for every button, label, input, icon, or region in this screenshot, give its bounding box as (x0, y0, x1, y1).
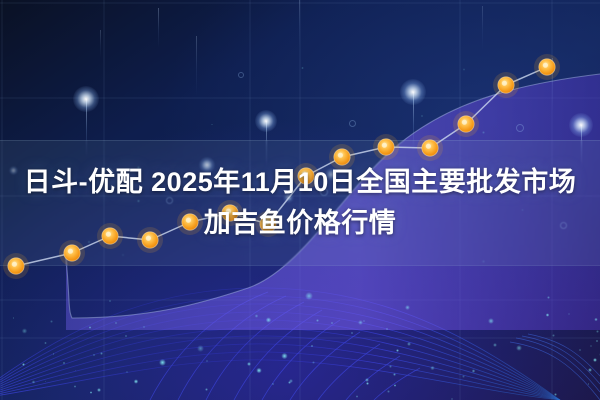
chart-point-highlight (462, 120, 467, 125)
chart-point-highlight (502, 81, 507, 86)
title-line-2: 加吉鱼价格行情 (204, 206, 397, 241)
title-line-1: 日斗-优配 2025年11月10日全国主要批发市场 (24, 165, 577, 200)
banner-title: 日斗-优配 2025年11月10日全国主要批发市场 加吉鱼价格行情 (0, 140, 600, 266)
chart-point-highlight (543, 63, 548, 68)
banner-image: 日斗-优配 2025年11月10日全国主要批发市场 加吉鱼价格行情 (0, 0, 600, 400)
